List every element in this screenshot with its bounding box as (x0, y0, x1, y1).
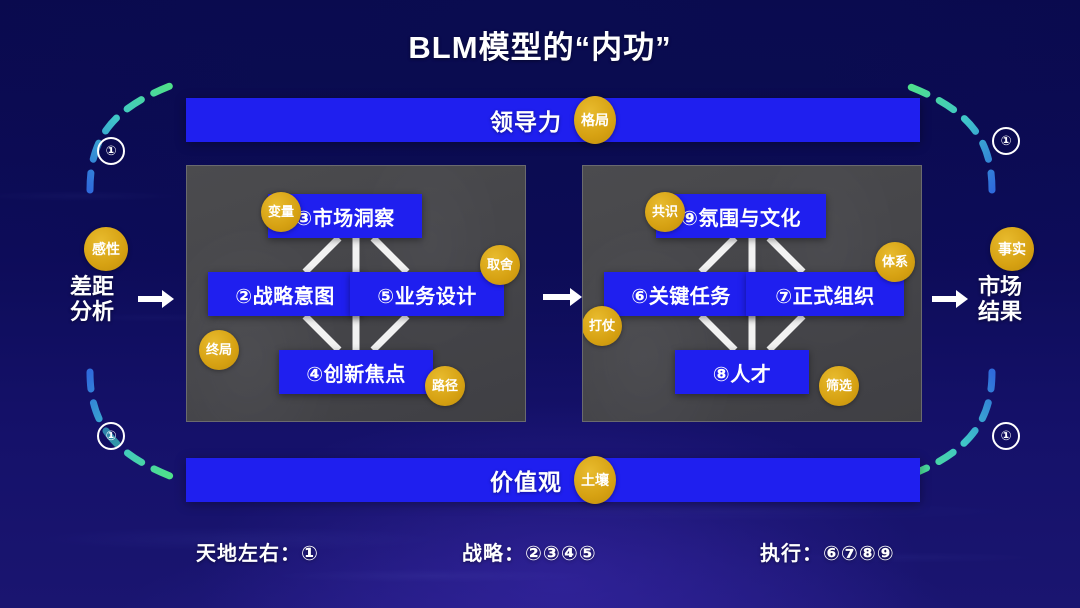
left-side-badge: 感性 (84, 227, 128, 271)
values-bar-label: 价值观 (490, 463, 562, 497)
left-side-cluster: ① ① 感性 差距 分析 (10, 0, 180, 608)
footer-item-1-label: 战略： (462, 543, 525, 565)
values-bar[interactable]: 价值观 土壤 (186, 458, 920, 502)
badge-lujing: 路径 (425, 366, 465, 406)
badge-qushe: 取舍 (480, 245, 520, 285)
badge-bianliang: 变量 (261, 192, 301, 232)
right-marker-top: ① (992, 127, 1020, 155)
node-market-insight-label: ③市场洞察 (295, 202, 394, 231)
left-side-text-line1: 差距 (70, 274, 114, 299)
right-result-arrow-icon (932, 288, 968, 310)
slide-canvas: BLM模型的“内功” 领导力 格局 ③市场洞察 ②战略意图 ⑤业务设计 ④创新焦… (0, 0, 1080, 608)
right-side-text-line1: 市场 (978, 274, 1022, 299)
node-formal-organization[interactable]: ⑦正式组织 (746, 272, 904, 316)
footer-item-2-label: 执行： (760, 543, 823, 565)
footer-item-2-numbers: ⑥⑦⑧⑨ (823, 543, 895, 565)
node-business-design-label: ⑤业务设计 (377, 280, 476, 309)
right-side-text: 市场 结果 (978, 275, 1022, 324)
left-side-text-line2: 分析 (70, 299, 114, 324)
values-bar-badge: 土壤 (574, 456, 616, 504)
badge-zhongju: 终局 (199, 330, 239, 370)
strategy-to-execution-arrow-icon (543, 285, 583, 309)
footer-item-strategy: 战略：②③④⑤ (462, 537, 597, 566)
leadership-bar-badge: 格局 (574, 96, 616, 144)
footer-item-0-label: 天地左右： (196, 543, 301, 565)
node-strategic-intent-label: ②战略意图 (235, 280, 334, 309)
left-gap-arrow-icon (138, 288, 174, 310)
node-strategic-intent[interactable]: ②战略意图 (208, 272, 362, 316)
node-talent-label: ⑧人才 (713, 358, 771, 387)
node-key-tasks[interactable]: ⑥关键任务 (604, 272, 758, 316)
node-key-tasks-label: ⑥关键任务 (631, 280, 730, 309)
leadership-bar[interactable]: 领导力 格局 (186, 98, 920, 142)
left-marker-bottom: ① (97, 422, 125, 450)
footer-legend: 天地左右：① 战略：②③④⑤ 执行：⑥⑦⑧⑨ (0, 534, 1080, 568)
strategy-panel: ③市场洞察 ②战略意图 ⑤业务设计 ④创新焦点 变量 取舍 终局 路径 (186, 165, 526, 422)
execution-panel: ⑨氛围与文化 ⑥关键任务 ⑦正式组织 ⑧人才 共识 体系 打仗 筛选 (582, 165, 922, 422)
node-formal-organization-label: ⑦正式组织 (775, 280, 874, 309)
badge-dazhang: 打仗 (582, 306, 622, 346)
badge-shaixuan: 筛选 (819, 366, 859, 406)
right-side-text-line2: 结果 (978, 299, 1022, 324)
badge-gongshi: 共识 (645, 192, 685, 232)
footer-item-tiandizuoyou: 天地左右：① (196, 537, 319, 566)
right-side-badge: 事实 (990, 227, 1034, 271)
leadership-bar-label: 领导力 (490, 103, 562, 137)
node-business-design[interactable]: ⑤业务设计 (350, 272, 504, 316)
node-culture-atmosphere-label: ⑨氛围与文化 (681, 202, 801, 231)
left-marker-top: ① (97, 137, 125, 165)
right-side-cluster: ① ① 事实 市场 结果 (900, 0, 1070, 608)
footer-item-1-numbers: ②③④⑤ (525, 543, 597, 565)
footer-item-execution: 执行：⑥⑦⑧⑨ (760, 537, 895, 566)
node-innovation-focus[interactable]: ④创新焦点 (279, 350, 433, 394)
footer-item-0-numbers: ① (301, 543, 319, 565)
left-side-text: 差距 分析 (70, 275, 114, 324)
node-innovation-focus-label: ④创新焦点 (306, 358, 405, 387)
node-talent[interactable]: ⑧人才 (675, 350, 809, 394)
right-marker-bottom: ① (992, 422, 1020, 450)
